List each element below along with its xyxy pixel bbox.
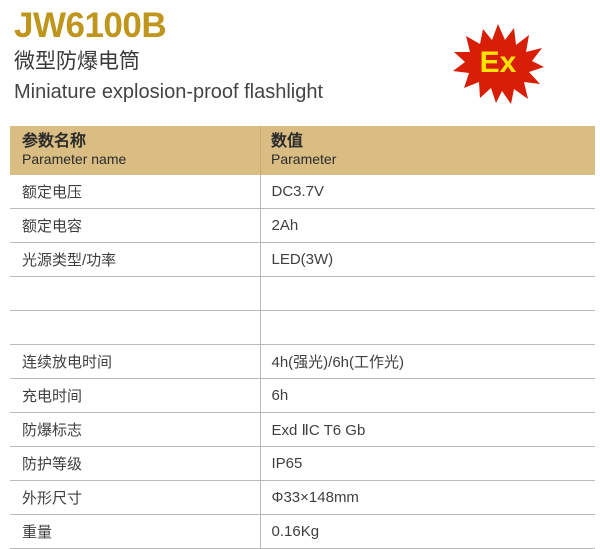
subtitle-chinese: 微型防爆电筒: [14, 47, 434, 77]
cell-parameter-name: [10, 311, 260, 345]
column-header-cn: 参数名称: [22, 132, 260, 151]
cell-parameter-name: 外形尺寸: [10, 481, 260, 515]
cell-parameter-name: 防护等级: [10, 447, 260, 481]
cell-parameter-name: 充电时间: [10, 379, 260, 413]
ex-mark-label: Ex: [480, 46, 517, 79]
column-header-en: Parameter: [271, 151, 595, 168]
product-spec-sheet: JW6100B 微型防爆电筒 Miniature explosion-proof…: [0, 0, 600, 513]
cell-parameter-value: Φ33×148mm: [260, 481, 595, 515]
table-row: 连续放电时间 4h(强光)/6h(工作光): [10, 345, 595, 379]
cell-parameter-value: 2Ah: [260, 209, 595, 243]
cell-parameter-value: DC3.7V: [260, 175, 595, 209]
cell-parameter-name: 防爆标志: [10, 413, 260, 447]
table-row: 光源类型/功率 LED(3W): [10, 243, 595, 277]
column-header-parameter-value: 数值 Parameter: [260, 126, 595, 175]
cell-parameter-name: 额定电容: [10, 209, 260, 243]
page-title: JW6100B: [14, 6, 434, 46]
cell-parameter-name: [10, 277, 260, 311]
cell-parameter-name: 光源类型/功率: [10, 243, 260, 277]
ex-explosion-proof-mark-icon: Ex: [452, 22, 544, 104]
cell-parameter-value: [260, 311, 595, 345]
table-row: 重量 0.16Kg: [10, 515, 595, 549]
cell-parameter-value: [260, 277, 595, 311]
table-row-empty: [10, 277, 595, 311]
table-row: 防护等级 IP65: [10, 447, 595, 481]
cell-parameter-value: 4h(强光)/6h(工作光): [260, 345, 595, 379]
cell-parameter-value: 0.16Kg: [260, 515, 595, 549]
specification-table: 参数名称 Parameter name 数值 Parameter 额定电压 DC…: [10, 126, 595, 549]
table-row-empty: [10, 311, 595, 345]
cell-parameter-name: 重量: [10, 515, 260, 549]
table-row: 充电时间 6h: [10, 379, 595, 413]
subtitle-english: Miniature explosion-proof flashlight: [14, 78, 434, 106]
cell-parameter-name: 连续放电时间: [10, 345, 260, 379]
column-header-cn: 数值: [271, 132, 595, 151]
cell-parameter-value: LED(3W): [260, 243, 595, 277]
table-row: 额定电压 DC3.7V: [10, 175, 595, 209]
table-row: 防爆标志 Exd ⅡC T6 Gb: [10, 413, 595, 447]
cell-parameter-value: Exd ⅡC T6 Gb: [260, 413, 595, 447]
title-block: JW6100B 微型防爆电筒 Miniature explosion-proof…: [14, 6, 434, 106]
cell-parameter-value: IP65: [260, 447, 595, 481]
cell-parameter-value: 6h: [260, 379, 595, 413]
table-body: 额定电压 DC3.7V 额定电容 2Ah 光源类型/功率 LED(3W) 连续放…: [10, 175, 595, 549]
table-row: 外形尺寸 Φ33×148mm: [10, 481, 595, 515]
table-header-row: 参数名称 Parameter name 数值 Parameter: [10, 126, 595, 175]
cell-parameter-name: 额定电压: [10, 175, 260, 209]
column-header-en: Parameter name: [22, 151, 260, 168]
page-header: JW6100B 微型防爆电筒 Miniature explosion-proof…: [0, 0, 600, 122]
table-row: 额定电容 2Ah: [10, 209, 595, 243]
column-header-parameter-name: 参数名称 Parameter name: [10, 126, 260, 175]
